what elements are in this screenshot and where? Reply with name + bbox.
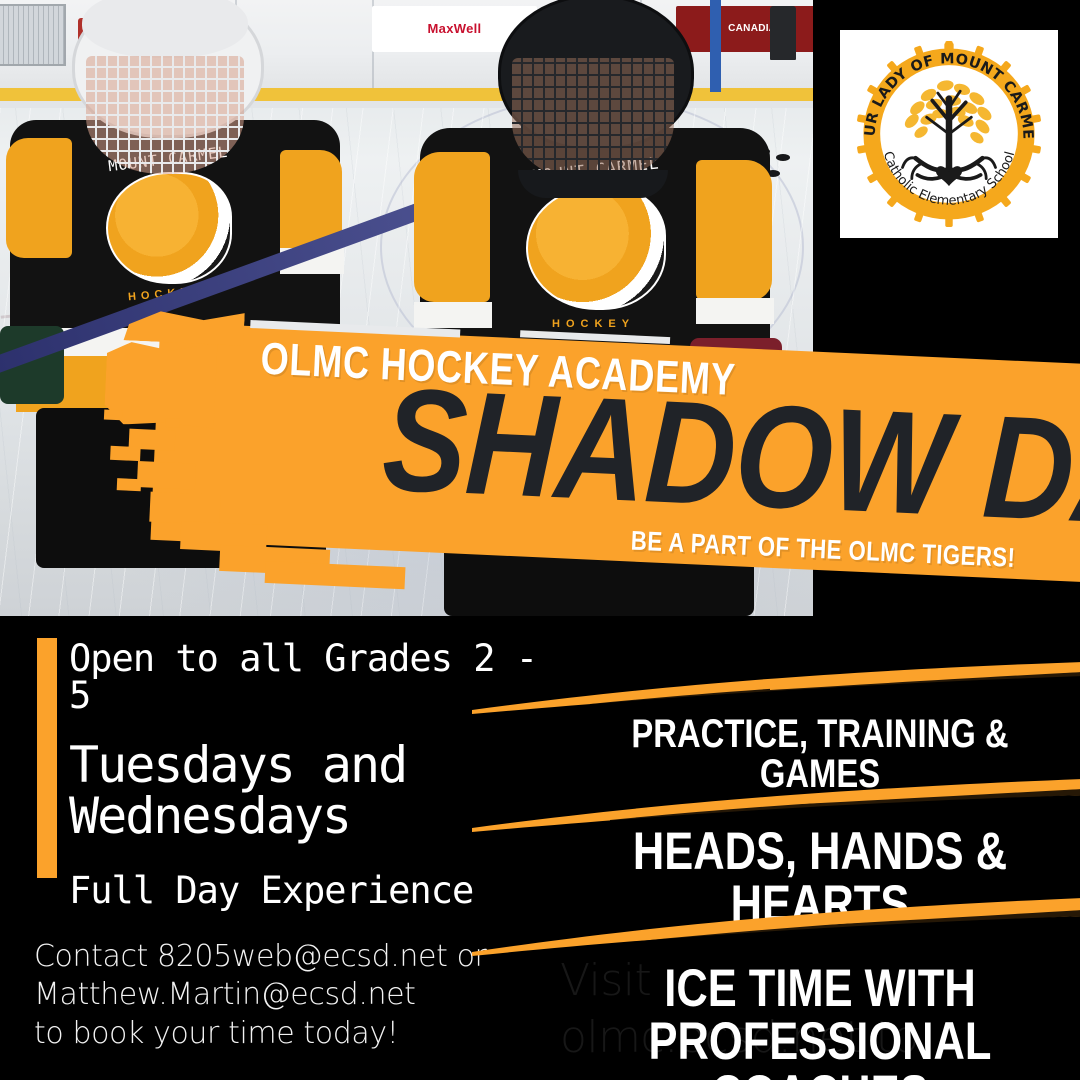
player-left-shoulder [6, 138, 72, 258]
feature-practice-training-games: PRACTICE, TRAINING & GAMES [607, 714, 1033, 794]
contact-line-2[interactable]: Matthew.Martin@ecsd.net [34, 976, 554, 1014]
duration-line: Full Day Experience [69, 872, 557, 909]
player-right-chinstrap [518, 170, 668, 198]
player-right-shoulder [414, 152, 490, 302]
details-column: Open to all Grades 2 - 5 Tuesdays and We… [37, 638, 557, 909]
contact-line-3: to book your time today! [34, 1015, 554, 1053]
school-logo-box: OUR LADY OF MOUNT CARMEL Catholic Elemen… [840, 30, 1058, 238]
player-left-cage-bars [86, 56, 244, 174]
brush-divider-1 [470, 660, 1080, 716]
crest-bottom-label: Catholic Elementary School [840, 30, 841, 31]
banner-headline: SHADOW DAYS [380, 366, 1080, 554]
banner-text-group: OLMC HOCKEY ACADEMY SHADOW DAYS BE A PAR… [150, 322, 1080, 583]
feature-ice-time-professional-coaches: ICE TIME WITH PROFESSIONAL COACHES [607, 962, 1033, 1080]
details-text-group: Open to all Grades 2 - 5 Tuesdays and We… [69, 638, 557, 909]
school-crest-icon: OUR LADY OF MOUNT CARMEL Catholic Elemen… [856, 41, 1042, 227]
player-right-cage [512, 58, 674, 182]
feature-heads-hands-hearts: HEADS, HANDS & HEARTS [607, 825, 1033, 931]
crest-top-label: OUR LADY OF MOUNT CARMEL [840, 30, 841, 31]
player-right-shoulder [696, 160, 772, 300]
accent-bar [37, 638, 57, 878]
days-line: Tuesdays and Wednesdays [69, 740, 557, 842]
contact-block: Contact 8205web@ecsd.net or Matthew.Mart… [34, 938, 554, 1053]
grades-line: Open to all Grades 2 - 5 [69, 638, 557, 714]
poster: MaxWell CANADIAN + TIRES [0, 0, 1080, 1080]
title-banner: OLMC HOCKEY ACADEMY SHADOW DAYS BE A PAR… [89, 277, 1080, 623]
player-right-tiger-logo [526, 186, 666, 310]
contact-line-1[interactable]: Contact 8205web@ecsd.net or [34, 938, 554, 976]
player-right-cage-bars [512, 58, 674, 182]
player-left-helmet-top [82, 0, 248, 58]
banner-splatter [265, 561, 406, 589]
player-left-tiger-logo [106, 172, 232, 284]
banner-splatter [104, 409, 122, 420]
banner-splatter [117, 478, 142, 491]
banner-splatter [110, 446, 141, 461]
player-left-cage [86, 56, 244, 174]
